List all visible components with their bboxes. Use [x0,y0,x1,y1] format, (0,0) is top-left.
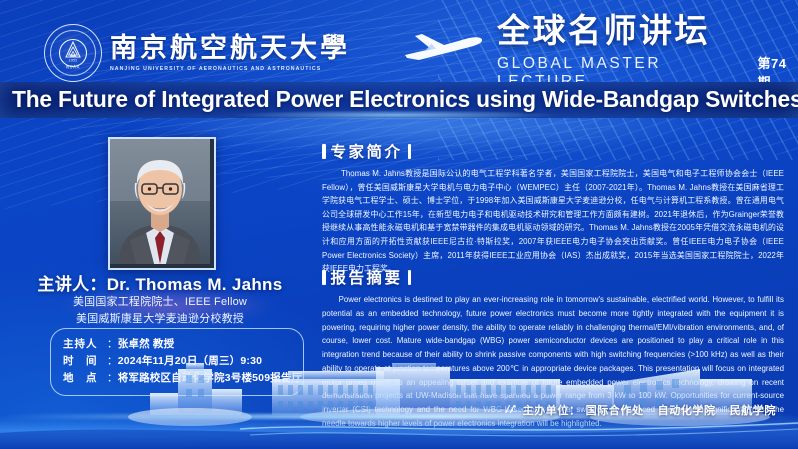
speaker-affiliation: 美国国家工程院院士、IEEE Fellow 美国威斯康星大学麦迪逊分校教授 [0,294,320,328]
speaker-bio-text: Thomas M. Jahns教授是国际公认的电气工程学科著名学者，美国国家工程… [322,167,784,276]
abstract-heading-text: 报告摘要 [331,266,403,288]
lecture-title: The Future of Integrated Power Electroni… [12,86,786,113]
heading-bar-left-icon [322,270,326,285]
nuaa-emblem-icon: 1952 NUAA [44,24,102,82]
heading-bar-right-icon [408,270,412,285]
organizer-item-0: 国际合作处 [586,402,644,418]
event-detail-location: 地 点 ： 将军路校区自动化学院3号楼509报告厅 [63,370,291,387]
event-detail-location-label: 地 点 [63,370,107,387]
lecture-poster: 1952 NUAA 南京航空航天大學 NANJING UNIVERSITY OF… [0,0,798,449]
speaker-name: 主讲人：Dr. Thomas M. Jahns [0,270,320,295]
event-detail-host-value: 张卓然 教授 [118,336,175,353]
event-detail-time-value: 2024年11月20日（周三）9:30 [118,353,262,370]
abstract-heading: 报告摘要 [322,266,784,288]
speaker-bio-heading-text: 专家简介 [331,140,403,162]
svg-text:1952: 1952 [69,59,77,63]
speaker-affiliation-line1: 美国国家工程院院士、IEEE Fellow [0,294,320,311]
university-name-cn: 南京航空航天大學 [110,34,350,62]
speaker-affiliation-line2: 美国威斯康星大学麦迪逊分校教授 [0,311,320,328]
sparkle-icon [502,404,518,416]
university-logo: 1952 NUAA 南京航空航天大學 NANJING UNIVERSITY OF… [44,24,350,82]
event-detail-host-colon: ： [107,336,118,353]
lecture-brand: 全球名师讲坛 GLOBAL MASTER LECTURE 第74期 [497,14,798,91]
speaker-photo [108,137,216,270]
speaker-bio-section: 专家简介 Thomas M. Jahns教授是国际公认的电气工程学科著名学者，美… [322,140,784,276]
event-detail-time: 时 间 ： 2024年11月20日（周三）9:30 [63,353,291,370]
speaker-bio-heading: 专家简介 [322,140,784,162]
event-details-box: 主持人 ： 张卓然 教授 时 间 ： 2024年11月20日（周三）9:30 地… [50,328,304,396]
event-detail-location-value: 将军路校区自动化学院3号楼509报告厅 [118,370,303,387]
brand-title-cn: 全球名师讲坛 [497,14,798,47]
organizer-label: 主办单位： [523,402,581,418]
university-name-en: NANJING UNIVERSITY OF AERONAUTICS AND AS… [110,66,350,72]
organizers: 主办单位： 国际合作处 自动化学院 民航学院 [502,402,776,418]
organizer-item-1: 自动化学院 [658,402,716,418]
airplane-icon [395,24,487,66]
heading-bar-left-icon [322,144,326,159]
organizer-item-2: 民航学院 [730,402,776,418]
heading-bar-right-icon [408,144,412,159]
svg-text:NUAA: NUAA [66,65,80,70]
event-detail-location-colon: ： [107,370,118,387]
event-detail-time-label: 时 间 [63,353,107,370]
event-detail-host: 主持人 ： 张卓然 教授 [63,336,291,353]
event-detail-time-colon: ： [107,353,118,370]
event-detail-host-label: 主持人 [63,336,107,353]
